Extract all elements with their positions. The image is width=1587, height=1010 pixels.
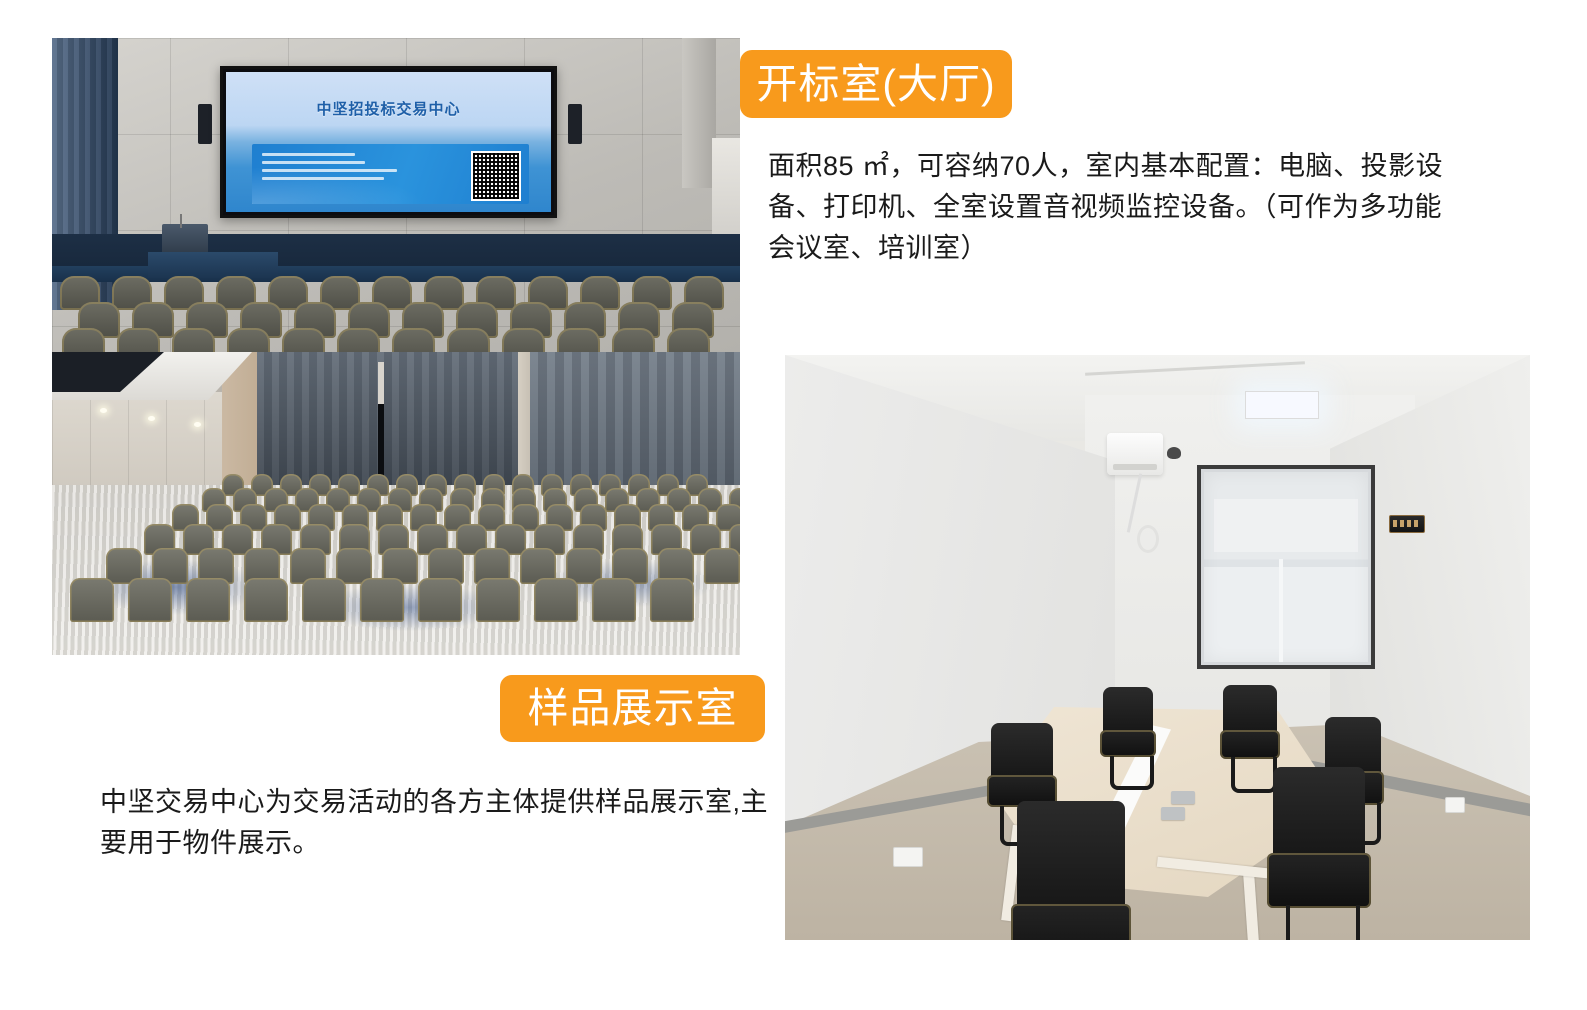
hall-seat	[650, 578, 694, 622]
hall-seat	[360, 578, 404, 622]
window-with-blind	[1197, 465, 1375, 669]
hall-seat	[70, 578, 114, 622]
led-screen-contact-lines	[262, 153, 423, 185]
auditorium-seat	[447, 328, 490, 352]
table-power-port-icon	[1161, 807, 1185, 820]
badge-hall-title: 开标室(大厅)	[740, 50, 1012, 118]
auditorium-seat	[502, 328, 545, 352]
auditorium-seat	[337, 328, 380, 352]
air-conditioner-icon	[1107, 433, 1163, 475]
roller-blind	[1204, 472, 1368, 662]
hall-seat	[534, 578, 578, 622]
description-hall: 面积85 ㎡，可容纳70人，室内基本配置：电脑、投影设备、打印机、全室设置音视频…	[768, 146, 1448, 269]
auditorium-seat	[117, 328, 160, 352]
hall-seat	[302, 578, 346, 622]
security-camera-icon	[1167, 447, 1181, 459]
speaker-right-icon	[568, 104, 582, 144]
air-conditioner-hose	[1137, 525, 1159, 553]
office-chair	[1273, 767, 1365, 927]
photo-meeting-room	[785, 355, 1530, 940]
auditorium-seat	[227, 328, 270, 352]
office-chair	[1223, 685, 1277, 769]
ceiling-light-icon	[194, 422, 201, 427]
hall-seat-rows	[52, 474, 740, 655]
led-display-screen: 中坚招投标交易中心	[220, 66, 557, 218]
auditorium-seat-rows	[52, 276, 740, 352]
ceiling-light-panel-icon	[1245, 391, 1319, 419]
photo-auditorium: 中坚招投标交易中心	[52, 38, 740, 352]
ceiling-light-icon	[148, 416, 155, 421]
table-power-port-icon	[1171, 791, 1195, 804]
auditorium-seat	[667, 328, 710, 352]
led-screen-title: 中坚招投标交易中心	[226, 98, 551, 119]
auditorium-seat	[172, 328, 215, 352]
auditorium-seat	[62, 328, 105, 352]
auditorium-seat	[392, 328, 435, 352]
photo-hall-seating	[52, 352, 740, 655]
qr-code-icon	[471, 151, 521, 201]
auditorium-seat	[612, 328, 655, 352]
hall-seat	[592, 578, 636, 622]
wall-sign-plate	[1389, 515, 1425, 533]
led-screen-content: 中坚招投标交易中心	[226, 72, 551, 212]
hall-seat	[128, 578, 172, 622]
hall-seat	[704, 548, 740, 584]
auditorium-seat	[282, 328, 325, 352]
microphone-icon	[180, 214, 182, 228]
hall-seat	[418, 578, 462, 622]
auditorium-seat	[557, 328, 600, 352]
wall-socket-icon	[1445, 797, 1465, 813]
hall-seat	[244, 578, 288, 622]
office-chair	[1017, 801, 1125, 940]
description-sample-room: 中坚交易中心为交易活动的各方主体提供样品展示室,主要用于物件展示。	[100, 782, 780, 864]
stage-table	[148, 252, 278, 278]
hall-seat	[476, 578, 520, 622]
hall-seat	[186, 578, 230, 622]
wall-socket-icon	[893, 847, 923, 867]
office-chair	[1103, 687, 1153, 767]
led-screen-contact-card	[252, 144, 529, 204]
auditorium-pillar	[682, 38, 716, 188]
ceiling-light-icon	[100, 408, 107, 413]
badge-sample-room-title: 样品展示室	[500, 675, 765, 742]
poster-canvas: 中坚招投标交易中心	[0, 0, 1587, 1010]
speaker-left-icon	[198, 104, 212, 144]
